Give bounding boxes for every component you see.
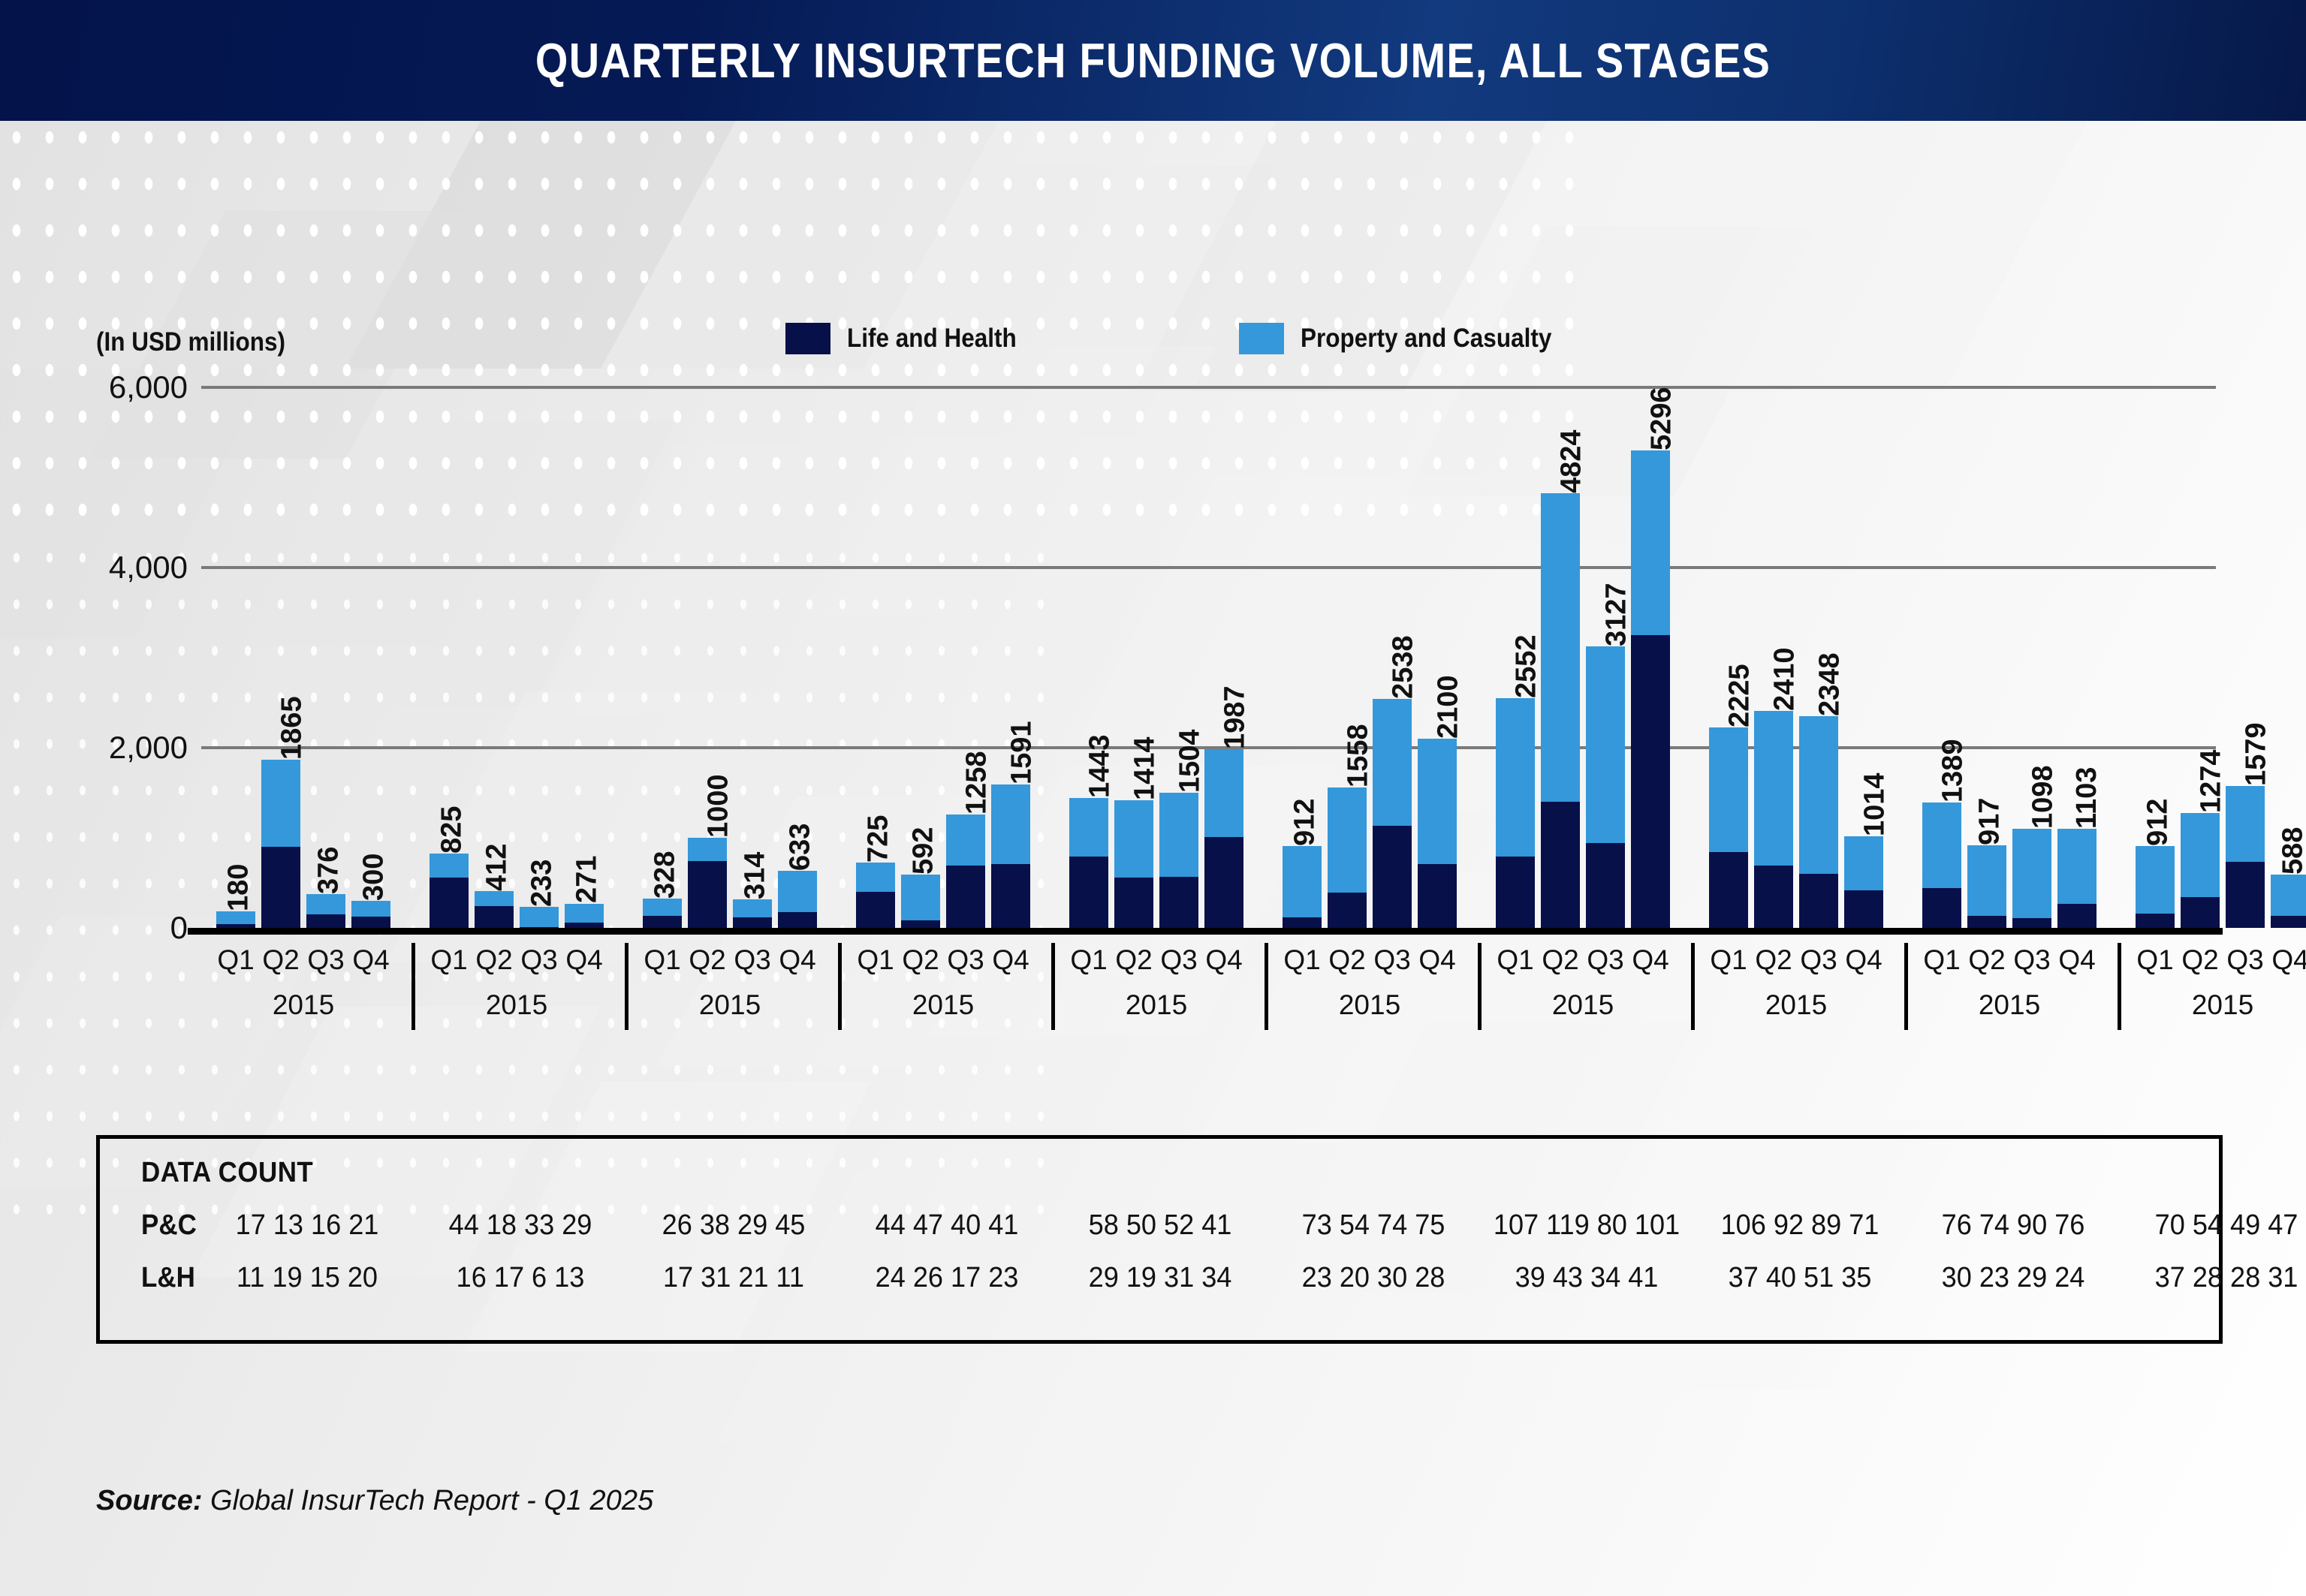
x-axis-year-label: 2015 (912, 989, 974, 1021)
bar-segment-property-and-casualty (1159, 793, 1198, 878)
bar-segment-property-and-casualty (733, 899, 772, 917)
bar-value-label: 588 (2282, 827, 2306, 875)
data-count-cell-pandc-g10: 70 54 49 47 (2155, 1209, 2298, 1242)
bar-segment-life-and-health (1283, 917, 1322, 928)
bar-value-label: 912 (1294, 798, 1326, 845)
bar-value-text: 5296 (1645, 387, 1678, 451)
bar-segment-life-and-health (1373, 826, 1412, 928)
bar-value-label: 2348 (1818, 653, 1850, 717)
bar-segment-life-and-health (306, 914, 345, 928)
bar-value-text: 300 (358, 854, 390, 901)
bar-Q3-g2[interactable]: 233 (520, 907, 559, 928)
bar-value-text: 2348 (1813, 653, 1846, 717)
bar-value-label: 4824 (1560, 430, 1592, 494)
bar-value-label: 1389 (1941, 739, 1973, 803)
bar-value-label: 592 (912, 827, 945, 875)
gridline-4000 (201, 566, 2216, 569)
x-axis-quarter-label: Q4 (1632, 944, 1668, 976)
source-text: Global InsurTech Report - Q1 2025 (210, 1485, 653, 1516)
x-axis-quarter-label: Q3 (2013, 944, 2050, 976)
x-axis-quarter-label: Q1 (1497, 944, 1533, 976)
bar-value-text: 4824 (1555, 430, 1587, 494)
bar-value-text: 2225 (1723, 664, 1756, 727)
bar-segment-property-and-casualty (430, 854, 469, 878)
bar-Q1-g7[interactable]: 2552 (1496, 698, 1535, 928)
bar-segment-life-and-health (901, 920, 940, 928)
bar-Q4-g5[interactable]: 1987 (1204, 749, 1243, 928)
data-count-cell-landh-g3: 17 31 21 11 (663, 1262, 804, 1294)
data-count-cell-landh-g2: 16 17 6 13 (457, 1262, 585, 1294)
bar-Q1-g3[interactable]: 328 (643, 899, 682, 928)
x-axis-quarter-label: Q2 (689, 944, 725, 976)
bar-segment-life-and-health (1069, 857, 1108, 928)
bar-value-label: 1579 (2244, 722, 2277, 786)
x-axis-quarter-label: Q2 (475, 944, 512, 976)
bar-value-label: 1443 (1088, 734, 1120, 798)
x-axis-quarter-label: Q2 (262, 944, 299, 976)
y-tick-label-0: 0 (170, 910, 188, 946)
bar-segment-life-and-health (946, 866, 985, 928)
x-axis-quarter-label: Q4 (1205, 944, 1242, 976)
bar-value-text: 633 (785, 824, 817, 871)
bar-value-text: 912 (2142, 798, 2175, 845)
bar-value-label: 2538 (1391, 636, 1424, 700)
bar-value-text: 2552 (1510, 634, 1542, 698)
bar-Q3-g4[interactable]: 1258 (946, 815, 985, 928)
x-axis-quarter-label: Q1 (1923, 944, 1960, 976)
bar-segment-life-and-health (1541, 802, 1580, 928)
bar-Q4-g8[interactable]: 1014 (1844, 836, 1883, 928)
bar-segment-property-and-casualty (306, 894, 345, 914)
bar-value-text: 3127 (1600, 583, 1632, 646)
bar-segment-property-and-casualty (1586, 646, 1625, 843)
bar-segment-life-and-health (2057, 904, 2097, 928)
bar-segment-life-and-health (261, 847, 300, 928)
bar-value-label: 1591 (1010, 721, 1042, 785)
bar-segment-property-and-casualty (216, 911, 255, 924)
y-tick-label-6000: 6,000 (109, 369, 188, 405)
bar-value-label: 5296 (1650, 387, 1682, 451)
bar-value-text: 180 (223, 864, 255, 911)
x-axis-quarter-label: Q4 (1845, 944, 1882, 976)
bar-segment-life-and-health (430, 878, 469, 928)
x-axis-group-separator (1904, 943, 1908, 1030)
bar-value-text: 2410 (1768, 647, 1801, 711)
bar-segment-property-and-casualty (688, 838, 727, 861)
bar-Q2-g6[interactable]: 1558 (1328, 787, 1367, 928)
x-axis-quarter-label: Q4 (992, 944, 1029, 976)
bar-Q4-g6[interactable]: 2100 (1418, 739, 1457, 928)
x-axis-line (188, 928, 2223, 935)
bar-value-text: 2100 (1432, 675, 1464, 739)
x-axis-quarter-label: Q3 (1587, 944, 1623, 976)
x-axis-quarter-label: Q4 (565, 944, 602, 976)
bar-Q1-g9[interactable]: 1389 (1922, 803, 1961, 928)
bar-segment-property-and-casualty (2181, 813, 2220, 897)
bar-value-text: 1274 (2195, 750, 2227, 814)
bar-value-label: 233 (531, 860, 563, 907)
bar-segment-property-and-casualty (1283, 846, 1322, 917)
bar-segment-property-and-casualty (565, 904, 604, 923)
bar-value-label: 825 (441, 806, 473, 854)
x-axis-year-label: 2015 (1339, 989, 1400, 1021)
x-axis-quarter-label: Q4 (779, 944, 815, 976)
bar-segment-property-and-casualty (991, 784, 1030, 864)
bar-segment-property-and-casualty (351, 901, 390, 917)
bar-segment-property-and-casualty (1631, 450, 1670, 635)
source-note: Source: Global InsurTech Report - Q1 202… (96, 1485, 653, 1517)
bar-value-text: 328 (650, 851, 682, 898)
bar-value-label: 412 (486, 843, 518, 890)
x-axis-quarter-label: Q2 (1968, 944, 2005, 976)
x-axis-group-separator (411, 943, 415, 1030)
data-count-panel: DATA COUNT P&C L&H 17 13 16 2144 18 33 2… (96, 1135, 2223, 1344)
bar-segment-life-and-health (1204, 837, 1243, 928)
x-axis-quarter-label: Q2 (1755, 944, 1792, 976)
bar-Q2-g10[interactable]: 1274 (2181, 813, 2220, 928)
x-axis-year-label: 2015 (699, 989, 761, 1021)
data-count-cell-landh-g5: 29 19 31 34 (1089, 1262, 1232, 1294)
data-count-cell-landh-g1: 11 19 15 20 (237, 1262, 378, 1294)
bar-segment-life-and-health (1967, 916, 2006, 928)
bar-Q4-g7[interactable]: 5296 (1631, 450, 1670, 928)
data-count-cell-pandc-g8: 106 92 89 71 (1721, 1209, 1879, 1242)
bar-Q3-g7[interactable]: 3127 (1586, 646, 1625, 928)
bar-segment-property-and-casualty (1069, 798, 1108, 857)
bar-segment-life-and-health (991, 864, 1030, 928)
x-axis-year-label: 2015 (1765, 989, 1827, 1021)
bar-value-label: 271 (576, 856, 608, 903)
bar-value-text: 1504 (1174, 729, 1206, 793)
x-axis-group-separator (838, 943, 842, 1030)
bar-segment-life-and-health (216, 924, 255, 928)
data-count-cell-landh-g9: 30 23 29 24 (1942, 1262, 2085, 1294)
bar-value-text: 912 (1289, 798, 1322, 845)
x-axis-quarter-label: Q3 (1800, 944, 1837, 976)
bar-segment-life-and-health (2181, 897, 2220, 928)
bar-segment-life-and-health (856, 892, 895, 928)
bar-segment-property-and-casualty (1844, 836, 1883, 890)
bar-value-text: 1389 (1937, 739, 1969, 803)
data-count-cell-pandc-g4: 44 47 40 41 (876, 1209, 1019, 1242)
bar-segment-property-and-casualty (1373, 699, 1412, 825)
bar-value-text: 1414 (1129, 737, 1161, 801)
bar-segment-property-and-casualty (2057, 829, 2097, 905)
data-count-title: DATA COUNT (141, 1157, 313, 1189)
bar-Q2-g9[interactable]: 917 (1967, 845, 2006, 928)
x-axis-quarter-label: Q3 (2226, 944, 2263, 976)
bar-value-text: 2538 (1387, 636, 1419, 700)
data-count-cell-landh-g10: 37 28 28 31 (2155, 1262, 2298, 1294)
data-count-cell-pandc-g1: 17 13 16 21 (236, 1209, 379, 1242)
bar-value-label: 917 (1979, 798, 2011, 845)
bar-value-label: 1000 (707, 774, 739, 838)
bar-segment-property-and-casualty (475, 891, 514, 907)
x-axis-quarter-label: Q3 (734, 944, 770, 976)
bar-Q3-g10[interactable]: 1579 (2226, 786, 2265, 928)
x-axis-quarter-label: Q4 (352, 944, 389, 976)
bar-segment-property-and-casualty (901, 875, 940, 920)
bar-segment-property-and-casualty (946, 815, 985, 866)
bar-segment-life-and-health (475, 906, 514, 928)
bar-value-label: 314 (744, 852, 776, 899)
bar-Q3-g9[interactable]: 1098 (2012, 829, 2051, 928)
x-axis-quarter-label: Q3 (947, 944, 984, 976)
bar-value-text: 376 (313, 846, 345, 893)
x-axis-year-label: 2015 (1126, 989, 1187, 1021)
bar-value-text: 1987 (1219, 685, 1251, 749)
bar-segment-property-and-casualty (643, 899, 682, 917)
bar-Q3-g6[interactable]: 2538 (1373, 699, 1412, 928)
bar-segment-property-and-casualty (1328, 787, 1367, 893)
bar-segment-life-and-health (733, 917, 772, 928)
bar-Q2-g1[interactable]: 1865 (261, 760, 300, 928)
bar-segment-life-and-health (1418, 864, 1457, 928)
bar-value-text: 1014 (1858, 773, 1891, 837)
bar-segment-life-and-health (1159, 877, 1198, 928)
bar-Q1-g10[interactable]: 912 (2136, 846, 2175, 928)
x-axis-quarter-label: Q2 (2181, 944, 2218, 976)
bar-Q4-g10[interactable]: 588 (2271, 875, 2306, 928)
bar-Q2-g8[interactable]: 2410 (1754, 711, 1793, 928)
bar-segment-life-and-health (565, 923, 604, 928)
bar-segment-property-and-casualty (1967, 845, 2006, 916)
bar-segment-property-and-casualty (2136, 846, 2175, 914)
data-count-cell-landh-g4: 24 26 17 23 (876, 1262, 1019, 1294)
bar-segment-life-and-health (1631, 635, 1670, 928)
bar-Q3-g3[interactable]: 314 (733, 899, 772, 928)
bar-value-label: 328 (654, 851, 686, 898)
bar-segment-property-and-casualty (1204, 749, 1243, 838)
x-axis-quarter-label: Q1 (430, 944, 467, 976)
bar-segment-life-and-health (778, 912, 817, 928)
x-axis-quarter-label: Q3 (307, 944, 344, 976)
chart-plot-area: 02,0004,0006,000 18018653763008254122332… (0, 0, 2306, 1596)
bar-segment-life-and-health (688, 861, 727, 928)
bar-Q3-g5[interactable]: 1504 (1159, 793, 1198, 928)
x-axis-group-separator (1051, 943, 1055, 1030)
y-tick-label-4000: 4,000 (109, 550, 188, 586)
bar-segment-property-and-casualty (856, 863, 895, 892)
x-axis-quarter-label: Q4 (2058, 944, 2095, 976)
bar-value-text: 314 (740, 852, 772, 899)
gridline-6000 (201, 386, 2216, 389)
x-axis-quarter-label: Q3 (1160, 944, 1197, 976)
bar-value-text: 1443 (1084, 734, 1116, 798)
bar-value-text: 412 (481, 843, 514, 890)
bar-value-label: 1865 (280, 697, 312, 760)
bar-segment-property-and-casualty (1418, 739, 1457, 864)
x-axis-year-label: 2015 (2192, 989, 2253, 1021)
bar-segment-property-and-casualty (2271, 875, 2306, 916)
bar-value-text: 1591 (1005, 721, 1038, 785)
bar-segment-property-and-casualty (2226, 786, 2265, 862)
x-axis-year-label: 2015 (486, 989, 547, 1021)
bar-value-text: 1098 (2027, 766, 2059, 830)
bar-Q1-g4[interactable]: 725 (856, 863, 895, 928)
bar-segment-life-and-health (643, 916, 682, 928)
bar-value-text: 825 (436, 806, 469, 854)
data-count-cell-pandc-g3: 26 38 29 45 (662, 1209, 806, 1242)
y-tick-label-2000: 2,000 (109, 730, 188, 766)
bar-value-label: 633 (789, 824, 821, 871)
bar-value-text: 1258 (960, 751, 993, 815)
x-axis-quarter-label: Q4 (1418, 944, 1455, 976)
x-axis-quarter-label: Q3 (520, 944, 557, 976)
bar-Q2-g7[interactable]: 4824 (1541, 493, 1580, 928)
bar-segment-life-and-health (1328, 893, 1367, 928)
bar-value-label: 300 (363, 854, 395, 901)
bar-value-text: 1000 (702, 774, 734, 838)
bar-Q4-g3[interactable]: 633 (778, 871, 817, 928)
bar-segment-life-and-health (1114, 878, 1153, 928)
bar-segment-life-and-health (2136, 914, 2175, 928)
bar-Q4-g4[interactable]: 1591 (991, 784, 1030, 928)
bar-segment-life-and-health (2226, 862, 2265, 928)
bar-value-label: 180 (228, 864, 260, 911)
x-axis-quarter-label: Q4 (2271, 944, 2306, 976)
bar-segment-property-and-casualty (1709, 727, 1748, 852)
bar-value-text: 1579 (2240, 722, 2272, 786)
x-axis-group-separator (2118, 943, 2121, 1030)
bar-Q4-g1[interactable]: 300 (351, 901, 390, 928)
bar-Q3-g1[interactable]: 376 (306, 894, 345, 928)
bar-segment-property-and-casualty (1541, 493, 1580, 802)
bar-segment-life-and-health (1754, 866, 1793, 928)
bar-Q1-g8[interactable]: 2225 (1709, 727, 1748, 928)
bar-Q2-g2[interactable]: 412 (475, 891, 514, 928)
x-axis-year-label: 2015 (1552, 989, 1614, 1021)
data-count-cell-landh-g8: 37 40 51 35 (1729, 1262, 1872, 1294)
x-axis-group-separator (1478, 943, 1482, 1030)
bar-segment-life-and-health (2271, 916, 2306, 928)
bar-value-text: 233 (526, 860, 559, 907)
bar-value-text: 271 (571, 856, 604, 903)
bar-value-label: 2410 (1773, 647, 1805, 711)
x-axis-quarter-label: Q1 (1283, 944, 1320, 976)
bar-value-text: 1103 (2071, 766, 2103, 828)
x-axis-quarter-label: Q2 (1542, 944, 1578, 976)
x-axis-quarter-label: Q1 (857, 944, 894, 976)
bar-segment-property-and-casualty (1496, 698, 1535, 857)
bar-segment-life-and-health (1922, 888, 1961, 928)
bar-segment-property-and-casualty (1799, 716, 1838, 874)
x-axis-group-separator (1691, 943, 1695, 1030)
x-axis-quarter-label: Q2 (902, 944, 939, 976)
bar-value-label: 2100 (1436, 675, 1469, 739)
bar-value-label: 1014 (1863, 773, 1895, 837)
bar-segment-life-and-health (351, 917, 390, 928)
bar-value-label: 1103 (2075, 766, 2108, 828)
x-axis-group-separator (1265, 943, 1268, 1030)
data-count-cell-landh-g7: 39 43 34 41 (1515, 1262, 1659, 1294)
bar-Q4-g2[interactable]: 271 (565, 903, 604, 928)
bar-Q1-g2[interactable]: 825 (430, 854, 469, 928)
bar-value-label: 1414 (1133, 737, 1165, 801)
bar-segment-life-and-health (1586, 843, 1625, 928)
x-axis-year-label: 2015 (273, 989, 334, 1021)
bar-Q2-g4[interactable]: 592 (901, 875, 940, 928)
source-prefix: Source: (96, 1485, 202, 1516)
bar-value-text: 1558 (1342, 724, 1374, 788)
data-count-cell-pandc-g9: 76 74 90 76 (1942, 1209, 2085, 1242)
bar-Q1-g5[interactable]: 1443 (1069, 798, 1108, 928)
x-axis-quarter-label: Q1 (2136, 944, 2173, 976)
bar-segment-property-and-casualty (1114, 800, 1153, 877)
data-count-cell-pandc-g5: 58 50 52 41 (1089, 1209, 1232, 1242)
bar-value-label: 1987 (1223, 685, 1255, 749)
x-axis-quarter-label: Q1 (1070, 944, 1107, 976)
data-count-cell-pandc-g6: 73 54 74 75 (1302, 1209, 1445, 1242)
bar-segment-property-and-casualty (1922, 803, 1961, 888)
x-axis-quarter-label: Q1 (217, 944, 254, 976)
bar-segment-life-and-health (1844, 890, 1883, 928)
bar-Q2-g3[interactable]: 1000 (688, 838, 727, 928)
bar-segment-property-and-casualty (2012, 829, 2051, 918)
bar-Q3-g8[interactable]: 2348 (1799, 716, 1838, 928)
bar-Q2-g5[interactable]: 1414 (1114, 800, 1153, 928)
x-axis-group-separator (625, 943, 628, 1030)
bar-segment-property-and-casualty (520, 907, 559, 927)
bar-segment-life-and-health (1799, 874, 1838, 928)
bar-value-text: 592 (908, 827, 940, 875)
bar-segment-life-and-health (1496, 857, 1535, 928)
x-axis-quarter-label: Q2 (1115, 944, 1152, 976)
data-count-cell-pandc-g7: 107 119 80 101 (1494, 1209, 1680, 1242)
bar-value-text: 1865 (276, 697, 308, 760)
data-count-row-label-lh: L&H (141, 1262, 195, 1294)
bar-Q1-g6[interactable]: 912 (1283, 846, 1322, 928)
data-count-cell-landh-g6: 23 20 30 28 (1302, 1262, 1445, 1294)
bar-Q1-g1[interactable]: 180 (216, 911, 255, 928)
bar-value-text: 917 (1974, 798, 2006, 845)
bar-segment-property-and-casualty (261, 760, 300, 847)
bar-Q4-g9[interactable]: 1103 (2057, 829, 2097, 928)
bar-value-label: 1098 (2031, 766, 2063, 830)
x-axis-quarter-label: Q3 (1373, 944, 1410, 976)
bar-segment-life-and-health (1709, 852, 1748, 928)
bar-value-label: 725 (867, 815, 900, 863)
bar-segment-property-and-casualty (1754, 711, 1793, 866)
bar-value-text: 725 (863, 815, 895, 863)
x-axis-quarter-label: Q2 (1328, 944, 1365, 976)
bar-segment-property-and-casualty (778, 871, 817, 912)
x-axis-quarter-label: Q1 (1710, 944, 1747, 976)
bar-segment-life-and-health (520, 927, 559, 928)
bar-value-label: 912 (2147, 798, 2179, 845)
bar-value-label: 376 (318, 846, 350, 893)
x-axis-year-label: 2015 (1979, 989, 2040, 1021)
data-count-row-label-pc: P&C (141, 1209, 197, 1242)
data-count-cell-pandc-g2: 44 18 33 29 (449, 1209, 592, 1242)
x-axis-quarter-label: Q1 (644, 944, 680, 976)
bar-segment-life-and-health (2012, 918, 2051, 928)
bar-value-text: 588 (2277, 827, 2306, 875)
